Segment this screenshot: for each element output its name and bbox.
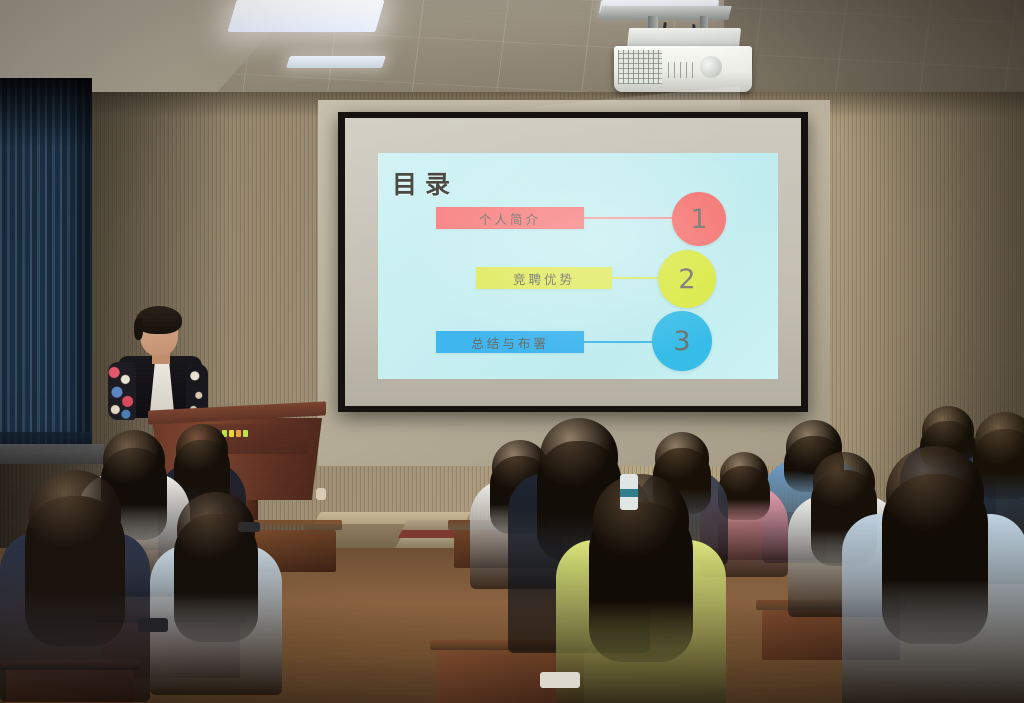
audience-member-front-left-1 xyxy=(0,470,150,703)
toc-number-circle-2: 2 xyxy=(658,250,716,308)
projector-lens xyxy=(700,56,722,78)
toc-label-bar-1: 个人简介 xyxy=(436,207,584,229)
presenter-hair-side xyxy=(134,318,143,340)
wall-outlet xyxy=(316,488,326,500)
lecture-hall-scene: 目录 个人简介 1 竞聘优势 2 总结与布署 3 xyxy=(0,0,1024,703)
water-bottle-cap xyxy=(620,489,638,497)
audience-member-checked-shirt xyxy=(842,446,1024,703)
toc-row-1: 个人简介 1 xyxy=(426,201,766,235)
curtain-top-shadow xyxy=(0,78,92,148)
toc-number-circle-1: 1 xyxy=(672,192,726,246)
projector-mount-plate xyxy=(598,6,731,20)
toc-label-bar-3: 总结与布署 xyxy=(436,331,584,353)
presenter-floral-sleeve-left xyxy=(108,362,136,420)
ceiling-light-panel-center xyxy=(286,56,386,68)
projector-vent-grille xyxy=(618,50,662,84)
notebook-on-desk xyxy=(540,672,580,688)
audience-member-front-left-2 xyxy=(150,492,282,703)
audience-member-yellow-top xyxy=(556,474,726,703)
presentation-slide: 目录 个人简介 1 竞聘优势 2 总结与布署 3 xyxy=(378,153,778,379)
toc-row-3: 总结与布署 3 xyxy=(426,325,766,359)
audience-member-front-left-1-head xyxy=(29,470,121,556)
audience-member-checked-shirt-head xyxy=(886,446,984,540)
projector-bracket xyxy=(627,28,741,48)
toc-row-2: 竞聘优势 2 xyxy=(466,261,778,295)
phone-on-desk xyxy=(238,522,260,532)
projector-control-panel xyxy=(668,62,696,78)
audience-member-yellow-top-head xyxy=(593,474,689,566)
tablet-on-desk xyxy=(138,618,168,632)
slide-title: 目录 xyxy=(392,165,458,201)
ceiling-light-panel-left xyxy=(227,0,384,32)
toc-label-bar-2: 竞聘优势 xyxy=(476,267,612,289)
toc-number-circle-3: 3 xyxy=(652,311,712,371)
